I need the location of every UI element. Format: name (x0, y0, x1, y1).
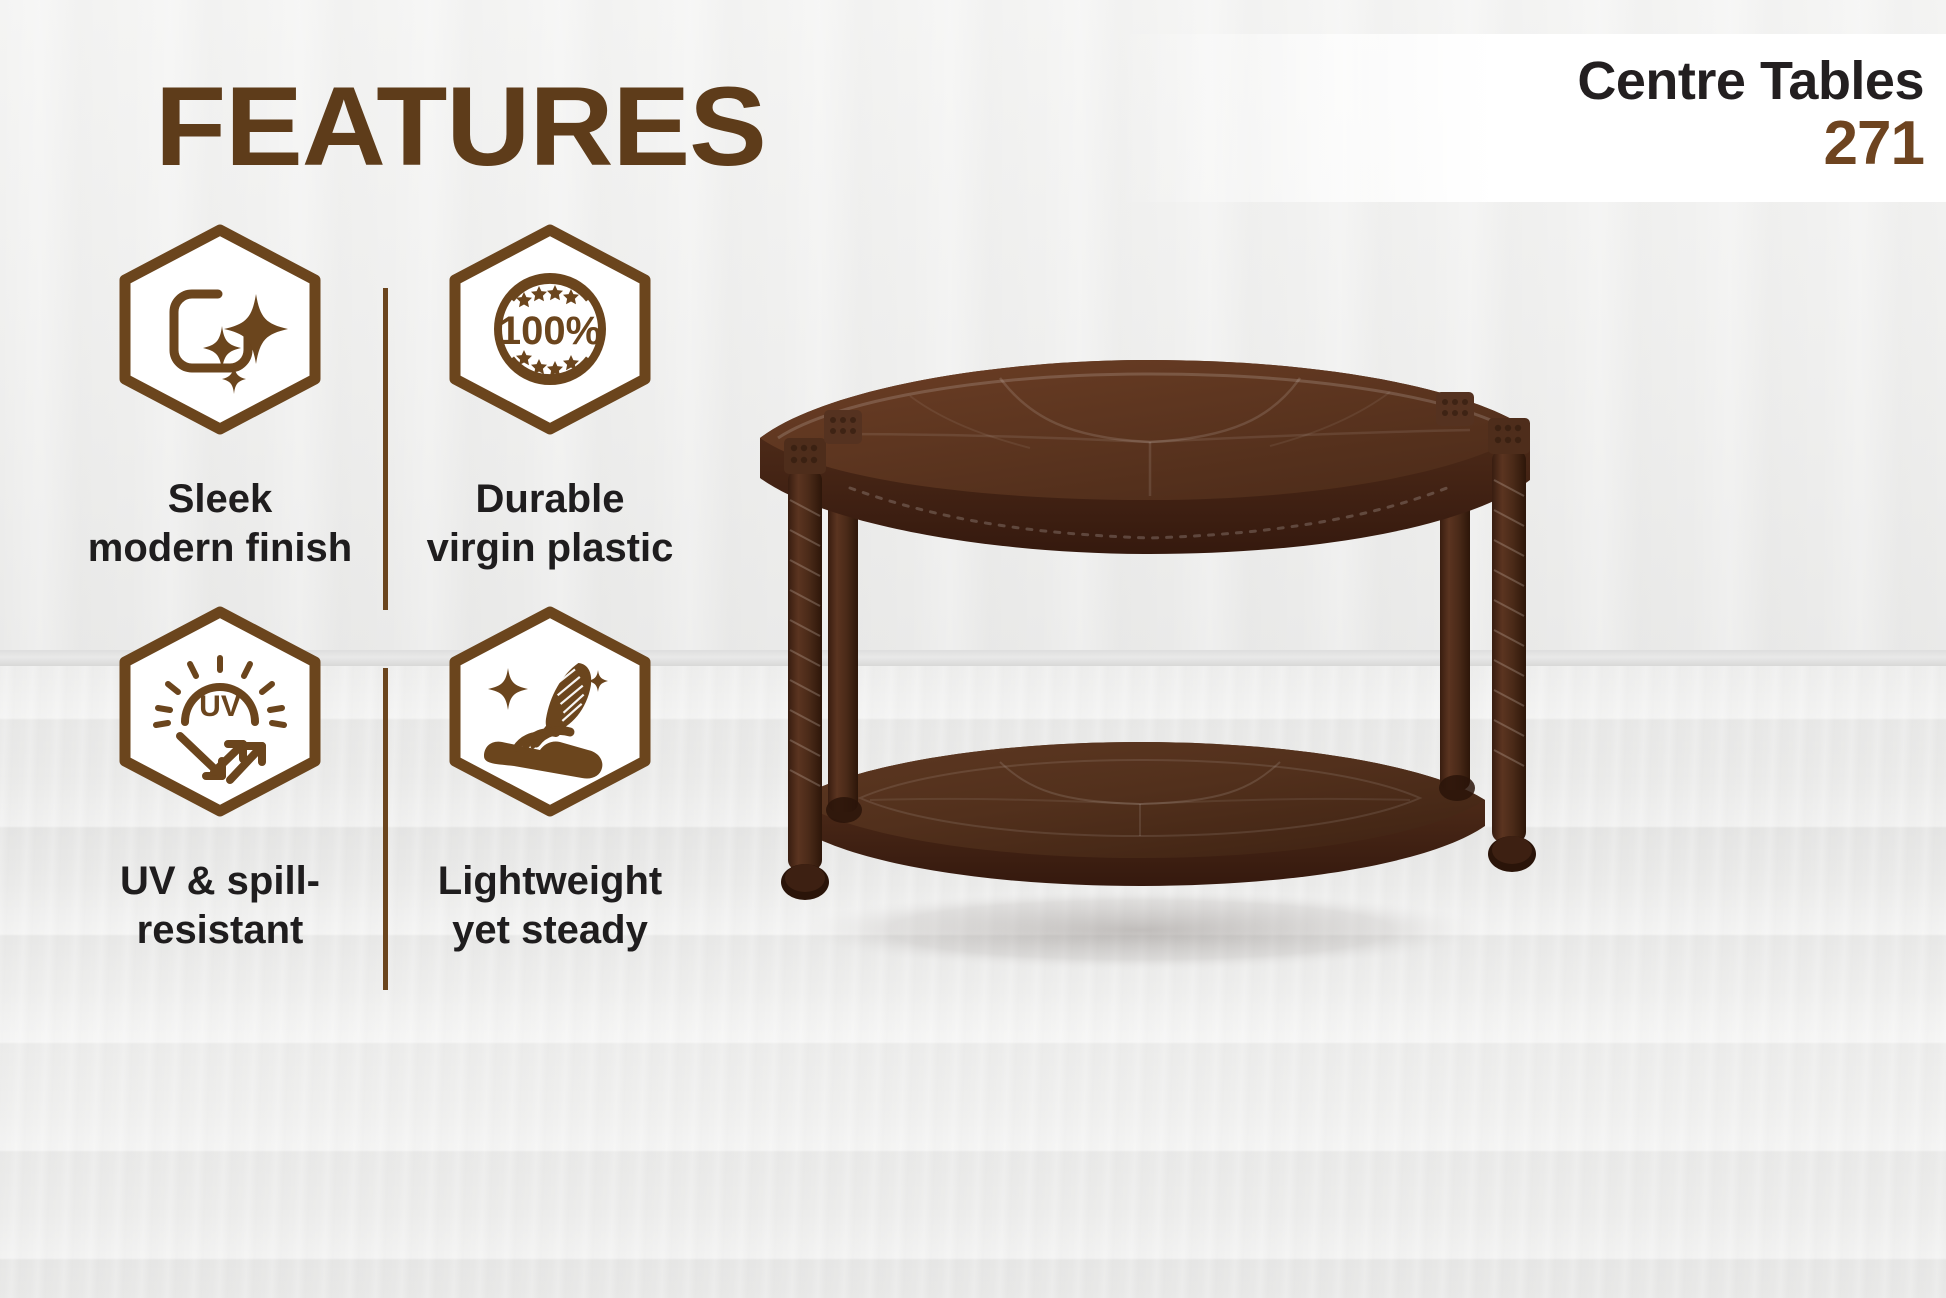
feature-item-lightweight-yet-steady: Lightweight yet steady (400, 604, 700, 955)
badge-text: 100% (499, 309, 601, 353)
uv-sun-arrows-icon: UV (110, 604, 330, 819)
hundred-percent-badge-icon: 100% (440, 222, 660, 437)
feature-label: Durable virgin plastic (400, 475, 700, 573)
sparkle-shine-icon (110, 222, 330, 437)
feature-label: UV & spill- resistant (70, 857, 370, 955)
product-header-panel: Centre Tables 271 (1116, 34, 1946, 202)
product-code: 271 (1116, 113, 1924, 175)
feature-label: Sleek modern finish (70, 475, 370, 573)
page-title: Centre Tables (1116, 34, 1924, 109)
feature-label: Lightweight yet steady (400, 857, 700, 955)
feature-item-sleek-modern-finish: Sleek modern finish (70, 222, 370, 573)
feature-item-durable-virgin-plastic: 100% Durable virgin plastic (400, 222, 700, 573)
section-title: FEATURES (155, 62, 766, 191)
uv-text: UV (199, 690, 241, 723)
product-image (700, 330, 1580, 990)
feature-item-uv-spill-resistant: UV UV & spill- resistant (70, 604, 370, 955)
hand-feather-icon (440, 604, 660, 819)
features-grid: Sleek modern finish (70, 222, 710, 982)
upper-shelf (760, 360, 1530, 554)
lower-shelf (795, 742, 1485, 886)
